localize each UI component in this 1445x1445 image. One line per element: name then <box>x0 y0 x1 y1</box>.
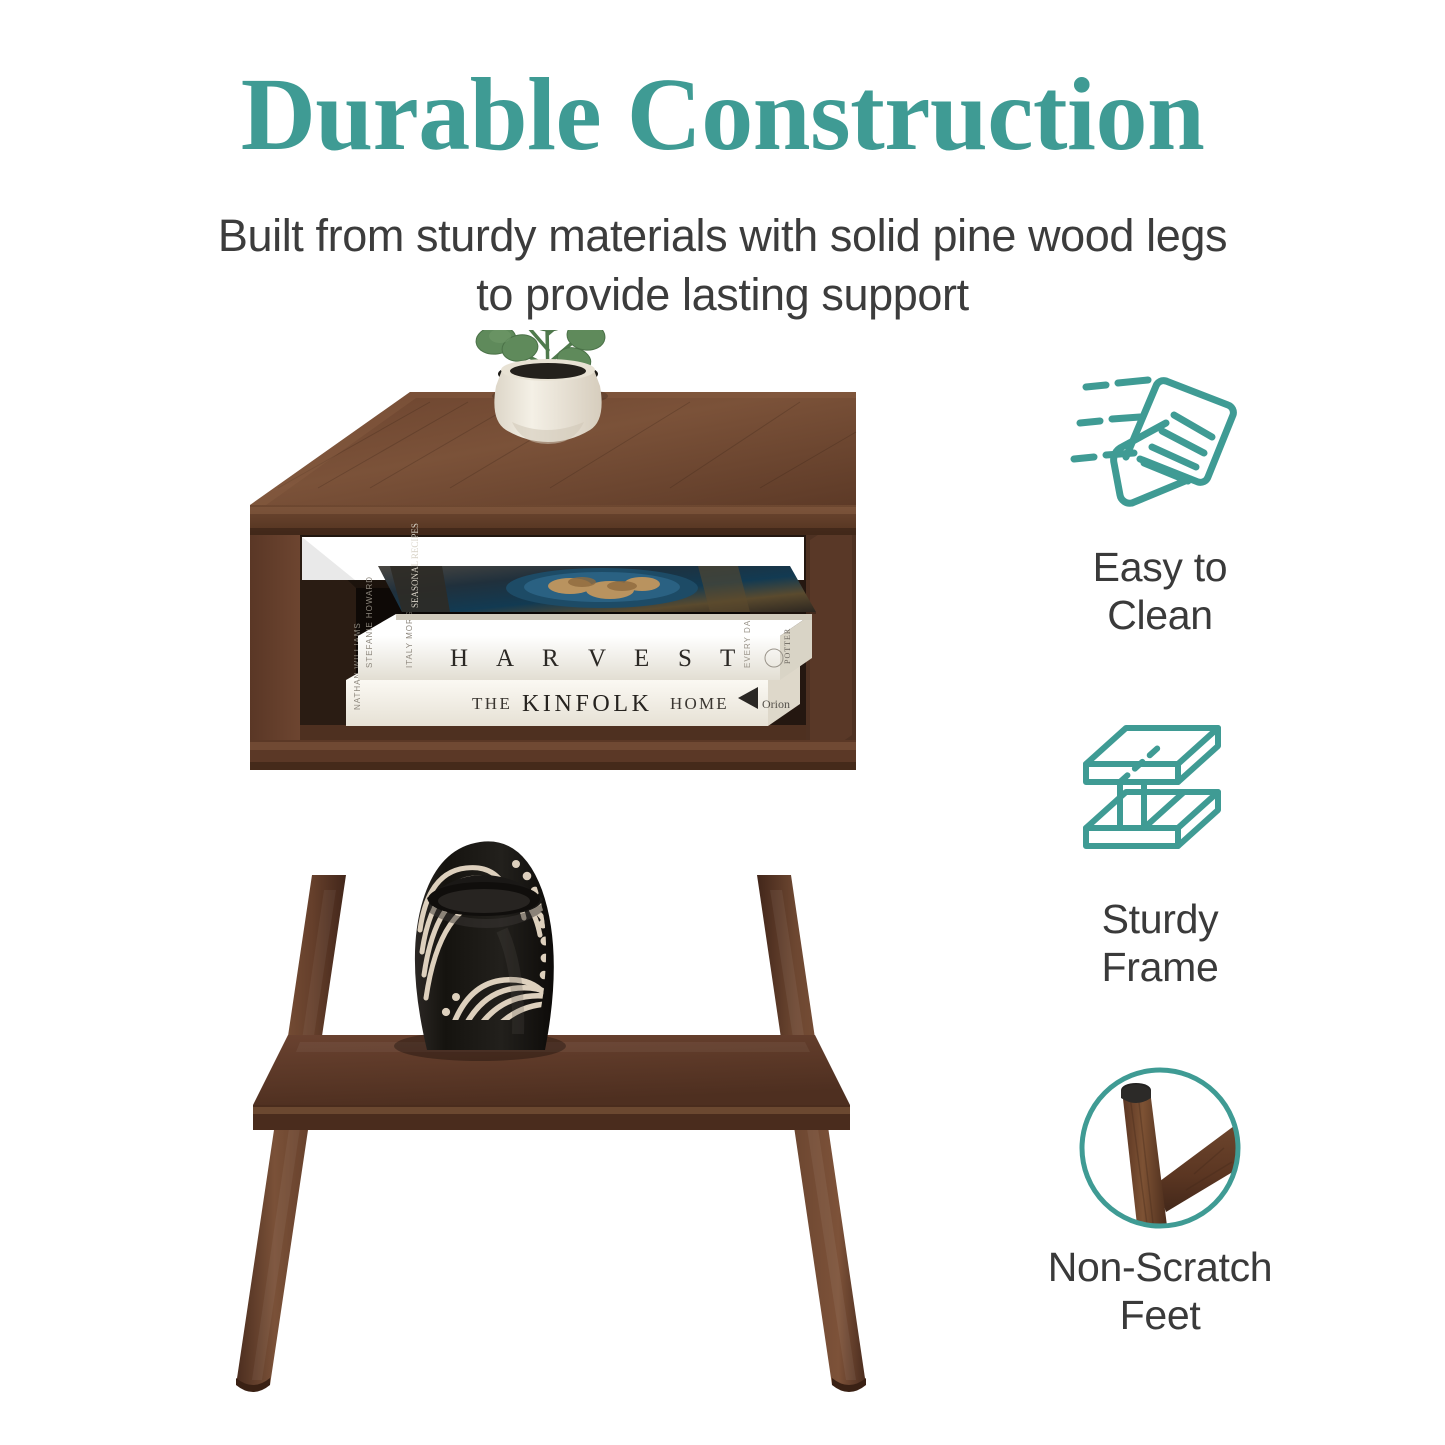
svg-text:STEFANIE HOWARD: STEFANIE HOWARD <box>365 576 374 668</box>
feature-label-line-2: Feet <box>995 1291 1325 1339</box>
non-scratch-foot-icon <box>995 1060 1325 1235</box>
i-beam-icon <box>995 712 1325 887</box>
svg-text:T: T <box>720 645 735 672</box>
svg-text:HOME: HOME <box>670 694 729 713</box>
feature-label-non-scratch-feet: Non-Scratch Feet <box>995 1243 1325 1340</box>
svg-text:H: H <box>450 645 468 672</box>
svg-text:EVERY DAY: EVERY DAY <box>743 614 752 668</box>
feature-item-sturdy-frame: Sturdy Frame <box>995 712 1325 992</box>
product-image: THE KINFOLK HOME Orion NATHAN WILLIAMS H… <box>150 330 950 1420</box>
feature-item-non-scratch-feet: Non-Scratch Feet <box>995 1060 1325 1340</box>
feature-label-line-2: Clean <box>995 591 1325 639</box>
svg-text:S: S <box>678 645 692 672</box>
feature-label-sturdy-frame: Sturdy Frame <box>995 895 1325 992</box>
svg-text:SEASONAL RECIPES: SEASONAL RECIPES <box>410 523 420 608</box>
feature-label-line-2: Frame <box>995 943 1325 991</box>
svg-text:R: R <box>542 645 559 672</box>
product-feature-graphic: Durable Construction Built from sturdy m… <box>0 0 1445 1445</box>
subtitle-line-1: Built from sturdy materials with solid p… <box>0 206 1445 265</box>
svg-text:E: E <box>634 645 649 672</box>
page-title: Durable Construction <box>0 60 1445 169</box>
page-subtitle: Built from sturdy materials with solid p… <box>0 206 1445 325</box>
svg-text:Orion: Orion <box>762 697 790 711</box>
feature-label-line-1: Non-Scratch <box>995 1243 1325 1291</box>
feature-item-easy-to-clean: Easy to Clean <box>995 360 1325 640</box>
svg-text:V: V <box>588 645 606 672</box>
svg-text:A: A <box>496 645 514 672</box>
feature-label-easy-to-clean: Easy to Clean <box>995 543 1325 640</box>
hand-wiping-cloth-icon <box>995 360 1325 535</box>
svg-text:KINFOLK: KINFOLK <box>522 691 653 717</box>
subtitle-line-2: to provide lasting support <box>0 265 1445 324</box>
svg-text:POTTER: POTTER <box>783 628 792 664</box>
feature-label-line-1: Easy to <box>995 543 1325 591</box>
feature-label-line-1: Sturdy <box>995 895 1325 943</box>
book-title-kinfolk: THE <box>472 694 512 713</box>
